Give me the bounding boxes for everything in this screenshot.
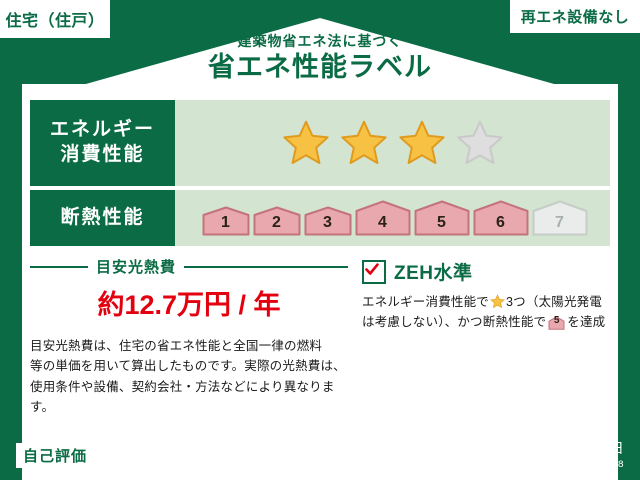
zeh-checkbox xyxy=(362,260,386,284)
insulation-level-badge: 2 xyxy=(253,206,301,236)
zeh-desc-part4: を達成 xyxy=(567,315,605,329)
zeh-heading: ZEH水準 xyxy=(362,258,610,285)
star-empty-icon xyxy=(456,119,504,167)
insulation-level-badges: 1234567 xyxy=(198,200,588,236)
title-block: 建築物省エネ法に基づく 省エネ性能ラベル xyxy=(0,34,640,85)
badge-value: 6 xyxy=(473,214,529,232)
insulation-performance-row: 断熱性能 1234567 xyxy=(30,190,610,246)
zeh-description: エネルギー消費性能で3つ（太陽光発電 は考慮しない）、かつ断熱性能で5を達成 xyxy=(362,292,610,333)
insulation-performance-value: 1234567 xyxy=(175,190,610,246)
star-filled-icon xyxy=(282,119,330,167)
zeh-desc-part2: 3つ（太陽光発電 xyxy=(506,295,602,309)
utility-cost-value: 約12.7万円 / 年 xyxy=(30,283,348,322)
insulation-level-badge: 3 xyxy=(304,206,352,236)
dwelling-type-tab: 住宅（住戸） xyxy=(0,0,110,38)
utility-cost-block: 目安光熱費 約12.7万円 / 年 目安光熱費は、住宅の省エネ性能と全国一律の燃… xyxy=(30,256,348,417)
badge-value: 7 xyxy=(532,214,588,232)
footer-right: 評価日 2024年4月2日 84cealdf-9792-4638 xyxy=(485,438,624,471)
inline-star-icon xyxy=(490,294,505,309)
utility-cost-note-line3: 使用条件や設備、契約会社・方法などにより異なります。 xyxy=(30,377,348,418)
insulation-performance-label: 断熱性能 xyxy=(30,190,175,246)
utility-cost-heading-text: 目安光熱費 xyxy=(96,256,176,277)
star-filled-icon xyxy=(340,119,388,167)
footer: 自己評価 0276681-01 304 評価日 2024年4月2日 84ceal… xyxy=(0,434,640,480)
page-title: 省エネ性能ラベル xyxy=(0,51,640,85)
energy-label-card: 住宅（住戸） 再エネ設備なし 建築物省エネ法に基づく 省エネ性能ラベル エネルギ… xyxy=(0,0,640,480)
zeh-desc-part1: エネルギー消費性能で xyxy=(362,295,489,309)
energy-performance-row: エネルギー 消費性能 xyxy=(30,100,610,186)
heading-rule-right xyxy=(184,266,348,268)
utility-cost-note-line2: 等の単価を用いて算出したものです。実際の光熱費は、 xyxy=(30,356,348,376)
utility-cost-note: 目安光熱費は、住宅の省エネ性能と全国一律の燃料 等の単価を用いて算出したものです… xyxy=(30,336,348,417)
energy-performance-label-line2: 消費性能 xyxy=(50,143,155,168)
zeh-title: ZEH水準 xyxy=(394,258,473,285)
evaluation-date: 評価日 2024年4月2日 xyxy=(485,438,624,458)
document-id: 0276681-01 304 xyxy=(102,448,201,463)
hash-code: 84cealdf-9792-4638 xyxy=(485,460,624,471)
energy-performance-label-line1: エネルギー xyxy=(50,118,155,143)
insulation-level-badge: 5 xyxy=(414,200,470,236)
footer-left: 自己評価 0276681-01 304 xyxy=(16,443,201,468)
main-content: エネルギー 消費性能 断熱性能 1234567 目安光熱費 xyxy=(30,100,610,428)
insulation-level-badge: 6 xyxy=(473,200,529,236)
insulation-level-badge: 1 xyxy=(202,206,250,236)
badge-value: 2 xyxy=(253,214,301,232)
energy-performance-value xyxy=(175,100,610,186)
insulation-level-badge: 4 xyxy=(355,200,411,236)
star-rating xyxy=(282,119,504,167)
insulation-level-badge: 7 xyxy=(532,200,588,236)
self-assessment-badge: 自己評価 xyxy=(16,443,94,468)
badge-value: 4 xyxy=(355,214,411,232)
lower-section: 目安光熱費 約12.7万円 / 年 目安光熱費は、住宅の省エネ性能と全国一律の燃… xyxy=(30,256,610,417)
renewable-equipment-tab: 再エネ設備なし xyxy=(510,0,640,33)
badge-value: 1 xyxy=(202,214,250,232)
title-subtitle: 建築物省エネ法に基づく xyxy=(0,34,640,49)
heading-rule-left xyxy=(30,266,88,268)
energy-performance-label: エネルギー 消費性能 xyxy=(30,100,175,186)
utility-cost-heading: 目安光熱費 xyxy=(30,256,348,277)
star-filled-icon xyxy=(398,119,446,167)
utility-cost-note-line1: 目安光熱費は、住宅の省エネ性能と全国一律の燃料 xyxy=(30,336,348,356)
badge-value: 3 xyxy=(304,214,352,232)
inline-insulation-badge-icon: 5 xyxy=(548,316,565,330)
check-icon xyxy=(365,263,379,277)
zeh-block: ZEH水準 エネルギー消費性能で3つ（太陽光発電 は考慮しない）、かつ断熱性能で… xyxy=(348,256,610,417)
badge-value: 5 xyxy=(414,214,470,232)
zeh-desc-part3: は考慮しない）、かつ断熱性能で xyxy=(362,315,546,329)
inline-badge-value: 5 xyxy=(548,313,565,329)
